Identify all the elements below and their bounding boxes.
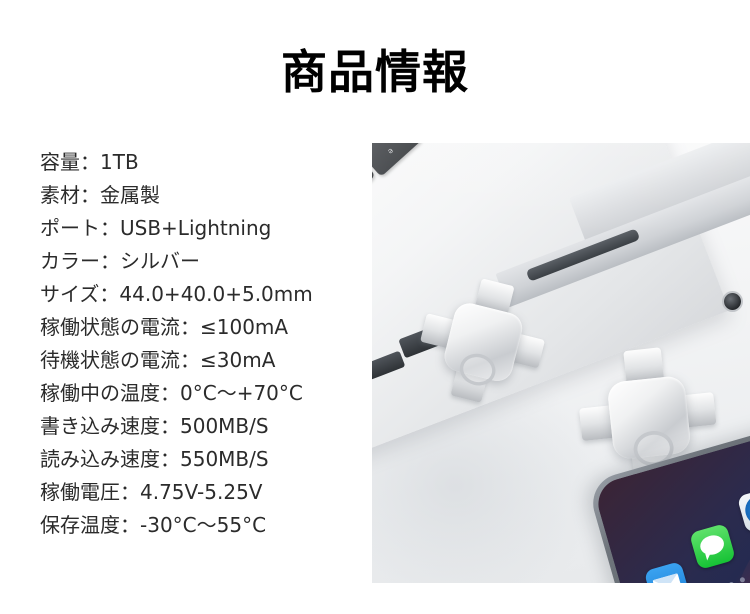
chat-bubble-icon [698, 533, 726, 558]
page-dot [739, 577, 746, 583]
spec-row-storage-temp: 保存温度：-30°C〜55°C [40, 509, 360, 542]
key-label-e: e [386, 146, 395, 156]
spec-row-material: 素材：金属製 [40, 179, 360, 212]
photo-background: caps lock shift e [372, 143, 750, 583]
envelope-flap-icon [653, 573, 681, 583]
spec-row-size: サイズ：44.0+40.0+5.0mm [40, 278, 360, 311]
compass-dial-icon [742, 491, 750, 528]
messages-app-icon [689, 523, 736, 570]
safari-app-icon [737, 486, 750, 533]
spec-row-write-speed: 書き込み速度：500MB/S [40, 410, 360, 443]
product-photo: caps lock shift e [372, 143, 750, 583]
spec-row-color: カラー：シルバー [40, 245, 360, 278]
headphone-jack-icon [724, 293, 741, 310]
spec-row-port: ポート：USB+Lightning [40, 212, 360, 245]
spec-row-standby-current: 待機状態の電流：≤30mA [40, 344, 360, 377]
spec-row-active-current: 稼働状態の電流：≤100mA [40, 311, 360, 344]
home-screen-page-dots [717, 562, 750, 583]
spec-row-voltage: 稼働電圧：4.75V-5.25V [40, 476, 360, 509]
spec-row-read-speed: 読み込み速度：550MB/S [40, 443, 360, 476]
page-title: 商品情報 [0, 44, 750, 100]
specification-list: 容量：1TB 素材：金属製 ポート：USB+Lightning カラー：シルバー… [40, 146, 360, 542]
spec-row-capacity: 容量：1TB [40, 146, 360, 179]
keyboard-key-e: e [372, 143, 423, 177]
product-info-page: 商品情報 容量：1TB 素材：金属製 ポート：USB+Lightning カラー… [0, 0, 750, 614]
mail-app-icon: 114 [644, 561, 691, 583]
spec-row-operating-temp: 稼働中の温度：0°C〜+70°C [40, 377, 360, 410]
page-dot [728, 581, 735, 583]
